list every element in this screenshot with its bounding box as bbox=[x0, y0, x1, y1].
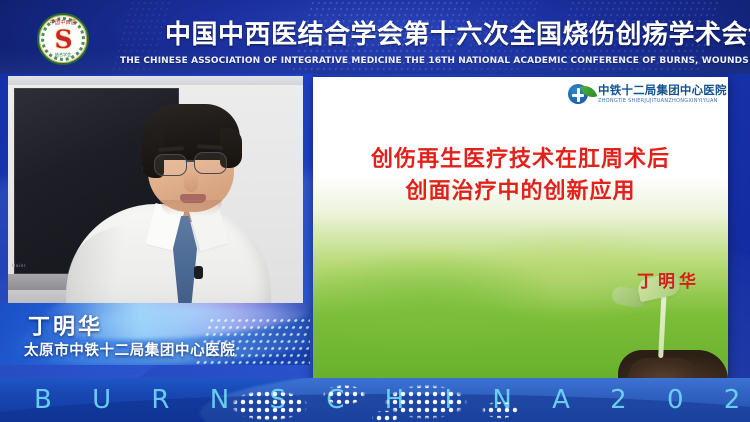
eyeglasses-lens-right bbox=[194, 152, 227, 174]
eyeglasses-bridge bbox=[186, 160, 195, 162]
room-ceiling-strip bbox=[8, 76, 303, 85]
speaker-video-feed[interactable]: Haier bbox=[8, 76, 303, 312]
conference-title-en: THE CHINESE ASSOCIATION OF INTEGRATIVE M… bbox=[120, 54, 728, 68]
lapel-microphone-icon bbox=[194, 266, 203, 279]
speaker-nose bbox=[184, 172, 198, 192]
emblem-center-glyph: S bbox=[53, 27, 74, 53]
medical-cross-icon bbox=[572, 94, 584, 97]
speaker-nameplate-overlay: 丁明华 太原市中铁十二局集团中心医院 bbox=[0, 303, 310, 365]
monitor-brand-label: Haier bbox=[12, 264, 26, 269]
slide-title: 创伤再生医疗技术在肛周术后 创面治疗中的创新应用 bbox=[313, 143, 728, 207]
hospital-name-cn: 中铁十二局集团中心医院 bbox=[598, 83, 720, 97]
hospital-name-pinyin: ZHONGTIE SHIERJUJITUANZHONGXINYIYUAN bbox=[598, 97, 720, 106]
emblem-bottom-text: 结合学会 bbox=[45, 51, 81, 59]
slide-title-line2: 创面治疗中的创新应用 bbox=[313, 175, 728, 207]
conference-header-banner: 中国中西医 S 结合学会 中国中西医结合学会第十六次全国烧伤创疡学术会议 THE… bbox=[0, 0, 750, 74]
speaker-chin-shading bbox=[160, 200, 222, 216]
conference-title-cn: 中国中西医结合学会第十六次全国烧伤创疡学术会议 bbox=[165, 18, 740, 52]
speaker-organization: 太原市中铁十二局集团中心医院 bbox=[24, 339, 235, 360]
event-footer-banner: B U R N S C H I N A 2 0 2 0 bbox=[0, 378, 750, 422]
eyeglasses-lens-left bbox=[154, 154, 187, 176]
slide-title-line1: 创伤再生医疗技术在肛周术后 bbox=[371, 146, 670, 172]
presentation-slide[interactable]: 中铁十二局集团中心医院 ZHONGTIE SHIERJUJITUANZHONGX… bbox=[313, 77, 728, 380]
speaker-name: 丁明华 bbox=[28, 309, 103, 341]
hospital-logo: 中铁十二局集团中心医院 ZHONGTIE SHIERJUJITUANZHONGX… bbox=[568, 83, 720, 107]
broadcast-stage: 中国中西医 S 结合学会 中国中西医结合学会第十六次全国烧伤创疡学术会议 THE… bbox=[0, 0, 750, 422]
soil-mound bbox=[628, 358, 698, 380]
association-emblem-icon: 中国中西医 S 结合学会 bbox=[33, 13, 93, 65]
world-map-dots-icon bbox=[215, 378, 555, 422]
slide-presenter-name: 丁明华 bbox=[637, 267, 700, 292]
